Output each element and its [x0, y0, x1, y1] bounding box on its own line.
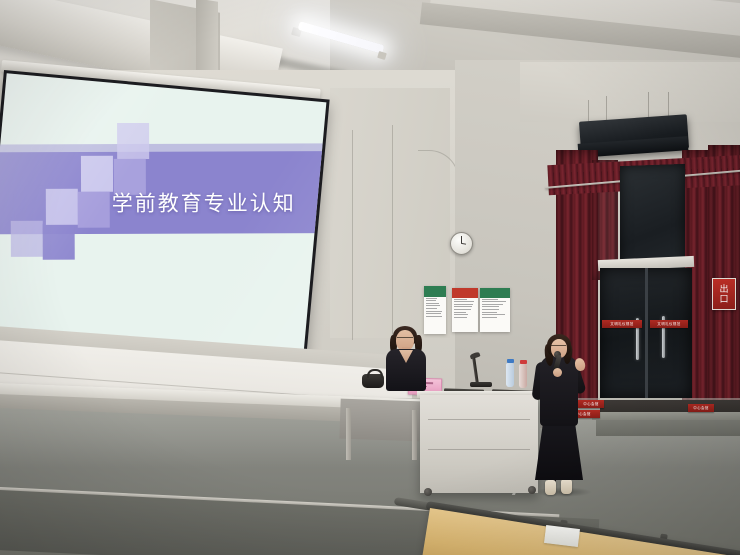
lecture-hall-photo: 学前教育专业认知 文明礼仪规范文明礼仪规范 出 口 中心会馆中 — [0, 0, 740, 555]
eyeglasses-icon — [551, 345, 566, 350]
exit-sign-char-1: 出 — [719, 284, 728, 294]
notice-board-header — [424, 286, 446, 297]
notice-board-header — [452, 288, 478, 298]
wall-clock-icon — [450, 232, 473, 255]
ac-mount-rod — [606, 96, 607, 122]
water-bottle-red — [519, 364, 527, 388]
right-wall-upper — [520, 62, 740, 122]
ac-mount-rod — [648, 92, 649, 120]
boot — [561, 479, 572, 494]
step-banner: 中心会馆 — [578, 400, 604, 408]
desk-leg — [412, 410, 417, 460]
notice-board-header — [480, 288, 510, 298]
notice-board-text — [452, 298, 478, 321]
notice-board-text — [480, 298, 510, 321]
door-center-seam — [645, 268, 648, 398]
stage-step-top — [592, 412, 740, 420]
eyeglasses-icon — [397, 337, 413, 342]
step-banner: 中心会馆 — [688, 404, 714, 412]
stage-step — [596, 418, 740, 436]
water-bottle-blue — [506, 363, 514, 387]
exit-sign-char-2: 口 — [719, 294, 728, 304]
podium-caster — [424, 488, 432, 496]
gooseneck-mic-base — [470, 382, 492, 387]
notice-board-text — [424, 297, 446, 320]
wall-panel-seam — [392, 125, 393, 340]
notice-board — [452, 288, 478, 332]
notice-board — [424, 286, 446, 334]
slide-mosaic-square — [46, 188, 78, 224]
ceiling-beam-drop — [196, 0, 218, 80]
wall-panel-seam — [352, 130, 353, 340]
desk-leg — [346, 408, 351, 460]
hand-holding-mic — [553, 368, 562, 377]
slide-mosaic-square — [117, 123, 149, 159]
door-banner: 文明礼仪规范 — [602, 320, 642, 328]
slide-mosaic-square — [43, 224, 75, 260]
boot — [545, 480, 556, 495]
exit-sign: 出 口 — [712, 278, 736, 310]
slide-mosaic-square — [11, 221, 43, 257]
door-banner: 文明礼仪规范 — [650, 320, 688, 328]
notice-board — [480, 288, 510, 332]
slide-mosaic-square — [14, 185, 46, 221]
bottle-cap-red — [520, 360, 527, 364]
handbag-handle — [367, 369, 383, 378]
slide-mosaic-square — [81, 156, 113, 192]
podium — [420, 395, 538, 493]
bottle-cap-blue — [507, 359, 514, 363]
slide-title: 学前教育专业认知 — [111, 188, 295, 218]
desk-side-panel — [339, 399, 420, 442]
slide-mosaic-square — [78, 191, 110, 227]
